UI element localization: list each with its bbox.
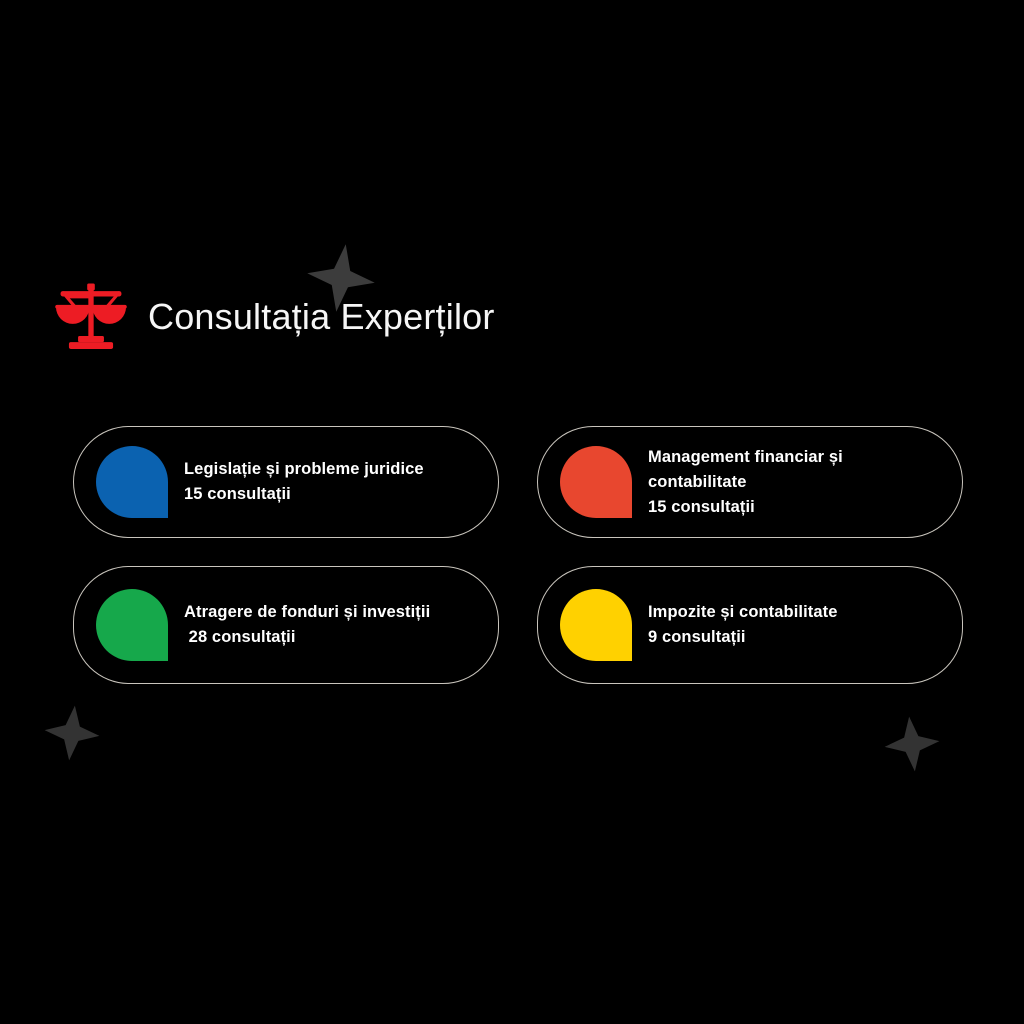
scales-of-justice-icon — [52, 282, 130, 352]
green-teardrop-icon — [96, 589, 168, 661]
page-root: Consultația Experților Legislație și pro… — [0, 0, 1024, 1024]
consultation-card-legislation[interactable]: Legislație și probleme juridice 15 consu… — [73, 426, 499, 538]
consultation-card-taxes[interactable]: Impozite și contabilitate 9 consultații — [537, 566, 963, 684]
page-title: Consultația Experților — [148, 298, 495, 336]
card-text: Legislație și probleme juridice 15 consu… — [184, 457, 424, 507]
card-title: Management financiar și contabilitate — [648, 445, 942, 495]
card-text: Impozite și contabilitate 9 consultații — [648, 600, 838, 650]
red-teardrop-icon — [560, 446, 632, 518]
card-count: 15 consultații — [184, 482, 424, 507]
page-header: Consultația Experților — [52, 282, 495, 352]
blue-teardrop-icon — [96, 446, 168, 518]
consultation-card-financial-management[interactable]: Management financiar și contabilitate 15… — [537, 426, 963, 538]
card-count: 9 consultații — [648, 625, 838, 650]
card-text: Management financiar și contabilitate 15… — [648, 445, 942, 520]
sparkle-icon-bottom-right — [882, 714, 943, 775]
sparkle-icon-bottom-left — [42, 703, 103, 764]
card-text: Atragere de fonduri și investiții 28 con… — [184, 600, 430, 650]
card-count: 15 consultații — [648, 495, 942, 520]
card-title: Impozite și contabilitate — [648, 600, 838, 625]
card-title: Atragere de fonduri și investiții — [184, 600, 430, 625]
yellow-teardrop-icon — [560, 589, 632, 661]
consultation-card-fundraising[interactable]: Atragere de fonduri și investiții 28 con… — [73, 566, 499, 684]
card-count: 28 consultații — [184, 625, 430, 650]
consultation-card-grid: Legislație și probleme juridice 15 consu… — [73, 426, 963, 684]
card-title: Legislație și probleme juridice — [184, 457, 424, 482]
